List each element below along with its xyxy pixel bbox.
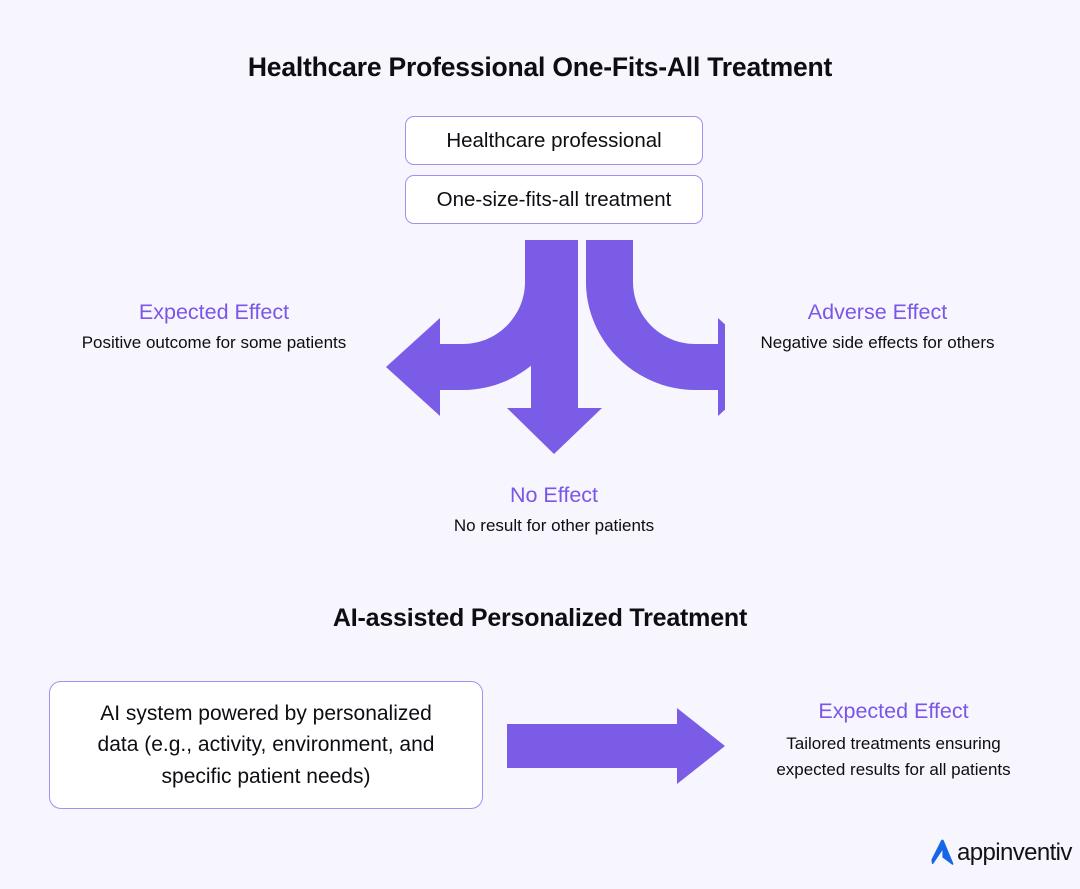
branch-adverse-effect: Adverse Effect Negative side effects for… [700, 299, 1055, 355]
branch-adverse-effect-title: Adverse Effect [700, 299, 1055, 327]
branch-ai-expected-effect-title: Expected Effect [740, 698, 1047, 726]
branch-no-effect-title: No Effect [394, 482, 714, 510]
branch-expected-effect: Expected Effect Positive outcome for som… [25, 299, 403, 355]
appinventiv-a-icon [924, 837, 956, 869]
right-arrow-shape [507, 708, 725, 784]
infographic-canvas: Healthcare Professional One-Fits-All Tre… [0, 0, 1080, 889]
section-title-traditional: Healthcare Professional One-Fits-All Tre… [0, 52, 1080, 83]
branching-arrows-group [380, 238, 725, 460]
card-healthcare-professional: Healthcare professional [405, 116, 703, 165]
appinventiv-logo: appinventiv [924, 834, 1052, 872]
section-title-ai-assisted: AI-assisted Personalized Treatment [0, 604, 1080, 633]
right-arrow [505, 706, 727, 786]
branch-adverse-effect-description: Negative side effects for others [700, 331, 1055, 356]
card-ai-system-line-1: AI system powered by personalized [100, 698, 432, 729]
branch-no-effect-description: No result for other patients [394, 514, 714, 539]
branch-ai-expected-effect-description-line-1: Tailored treatments ensuring [740, 731, 1047, 757]
card-ai-system-line-3: specific patient needs) [162, 761, 371, 792]
branch-ai-expected-effect-description-line-2: expected results for all patients [740, 757, 1047, 783]
branch-ai-expected-effect: Expected Effect Tailored treatments ensu… [740, 698, 1047, 783]
card-ai-system: AI system powered by personalized data (… [49, 681, 483, 809]
branch-expected-effect-title: Expected Effect [25, 299, 403, 327]
branch-expected-effect-description: Positive outcome for some patients [25, 331, 403, 356]
branch-ai-expected-effect-description: Tailored treatments ensuring expected re… [740, 731, 1047, 784]
card-ai-system-line-2: data (e.g., activity, environment, and [98, 729, 435, 760]
card-one-size-fits-all-treatment: One-size-fits-all treatment [405, 175, 703, 224]
branch-no-effect: No Effect No result for other patients [394, 482, 714, 538]
appinventiv-wordmark: appinventiv [957, 839, 1072, 867]
